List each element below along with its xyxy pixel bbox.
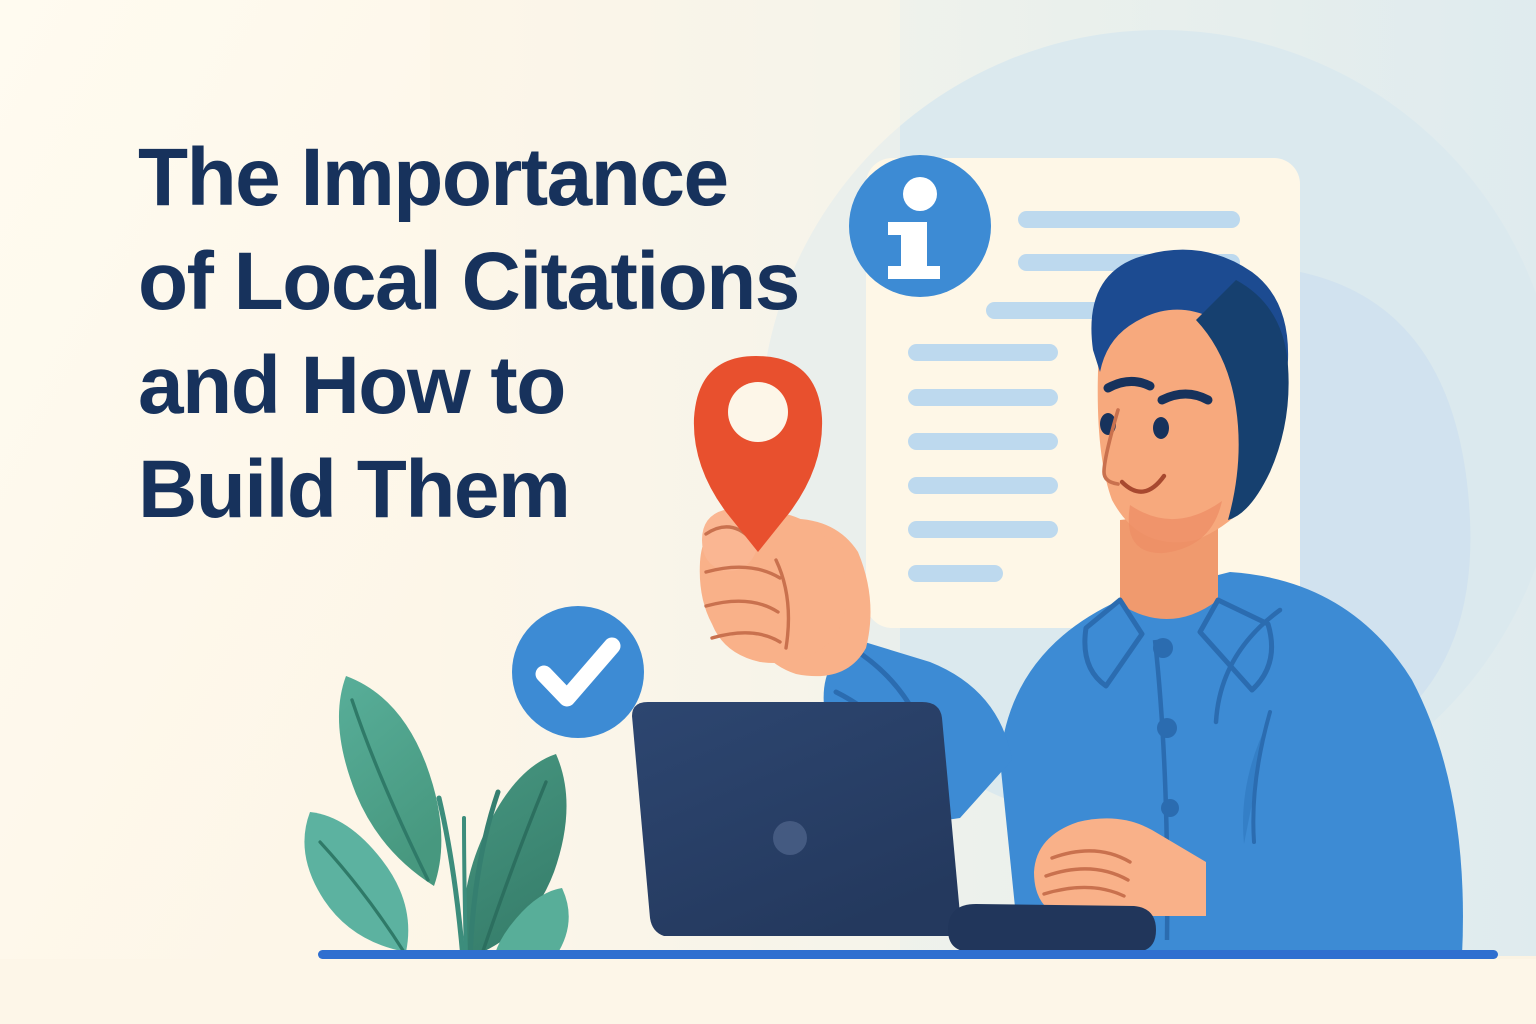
check-badge-icon [512,606,644,738]
title-line-4: Build Them [138,438,868,542]
title-line-1: The Importance [138,126,868,230]
info-badge-icon [849,155,991,297]
illustration-banner: The Importance of Local Citations and Ho… [0,0,1536,1024]
desk-line [318,950,1498,959]
title-line-3: and How to [138,334,868,438]
title-line-2: of Local Citations [138,230,868,334]
page-title: The Importance of Local Citations and Ho… [138,126,868,542]
